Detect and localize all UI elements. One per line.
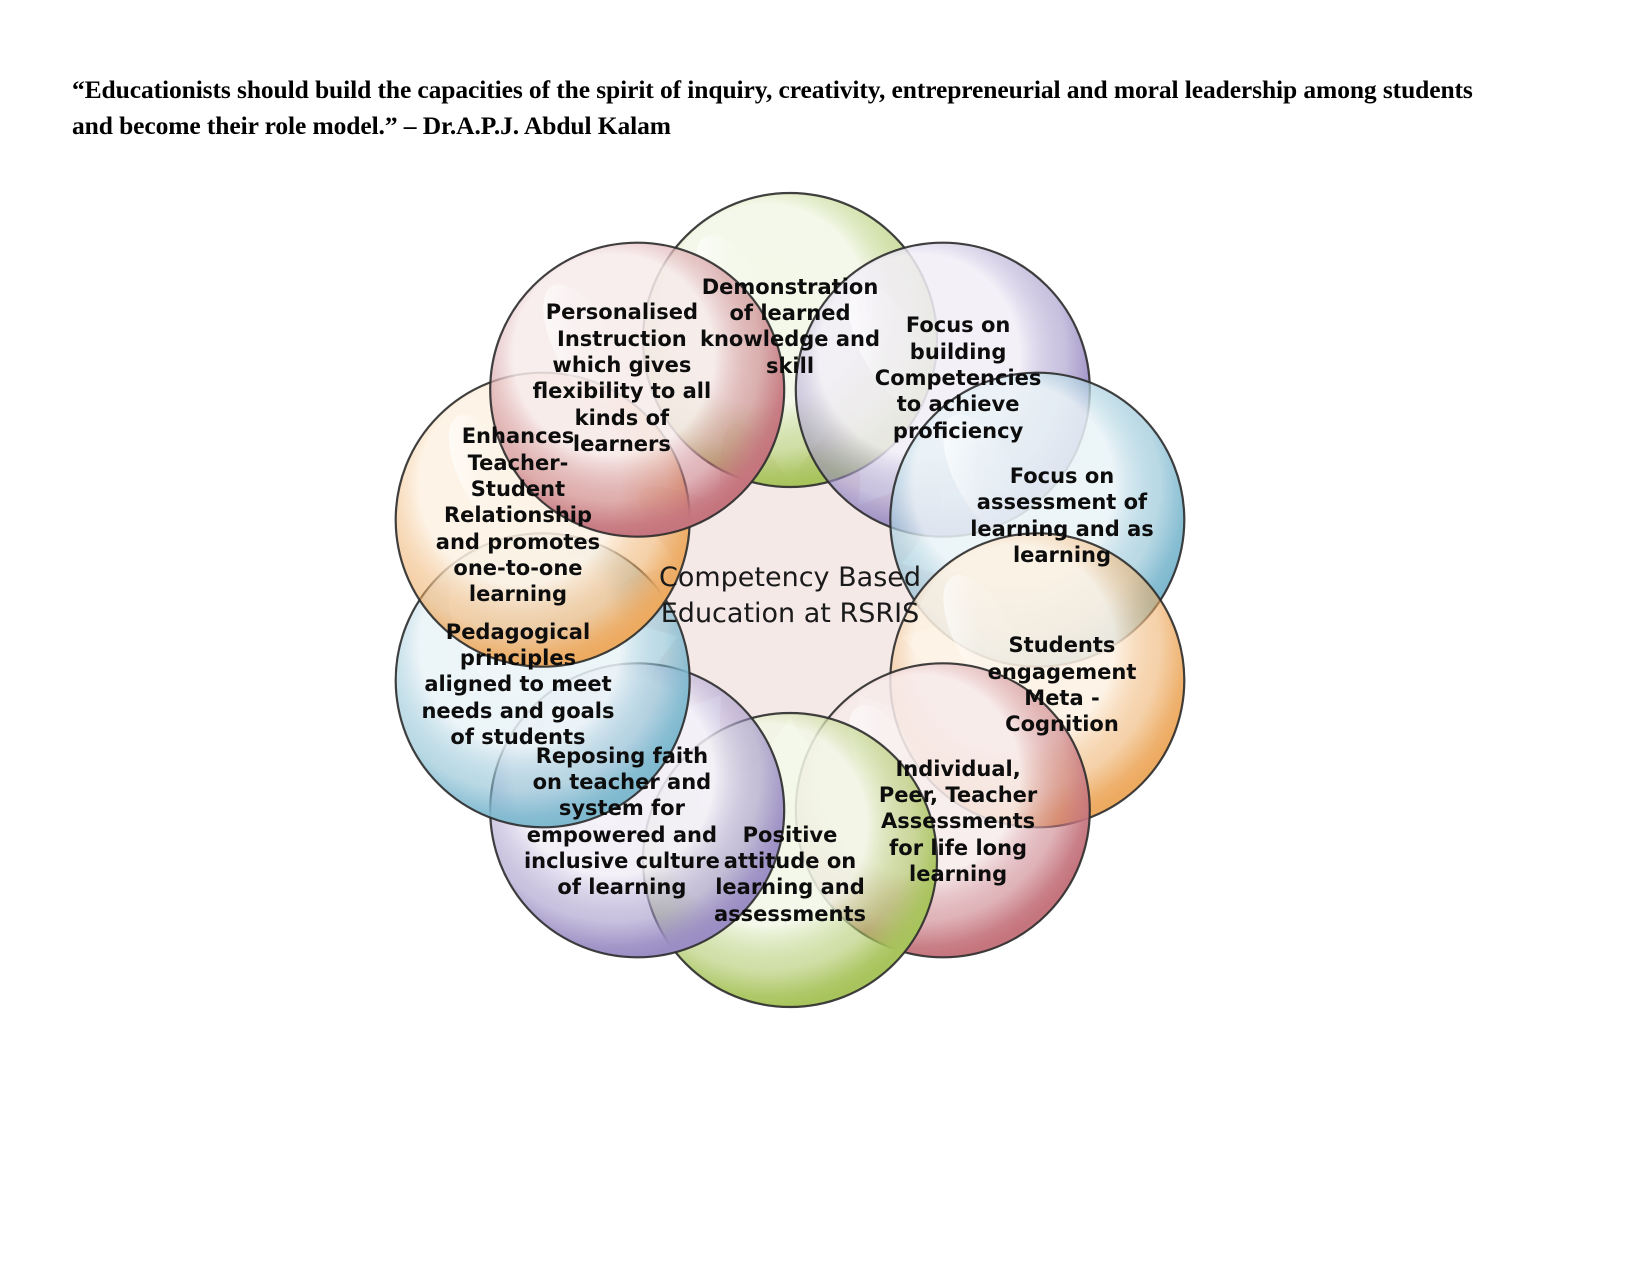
bubble-label-competencies: Focus on building Competencies to achiev… bbox=[833, 312, 1083, 444]
bubble-label-pedagogical: Pedagogical principles aligned to meet n… bbox=[393, 619, 643, 751]
bubble-label-engagement: Students engagement Meta - Cognition bbox=[937, 632, 1187, 737]
page-title: “Educationists should build the capaciti… bbox=[72, 72, 1492, 144]
bubble-label-personalised: Personalised Instruction which gives fle… bbox=[497, 299, 747, 457]
competency-venn-diagram: Competency Based Education at RSRIS Demo… bbox=[0, 140, 1650, 1140]
bubble-label-assessment: Focus on assessment of learning and as l… bbox=[937, 463, 1187, 568]
bubble-label-reposing-faith: Reposing faith on teacher and system for… bbox=[497, 743, 747, 901]
center-label: Competency Based Education at RSRIS bbox=[580, 560, 1000, 632]
